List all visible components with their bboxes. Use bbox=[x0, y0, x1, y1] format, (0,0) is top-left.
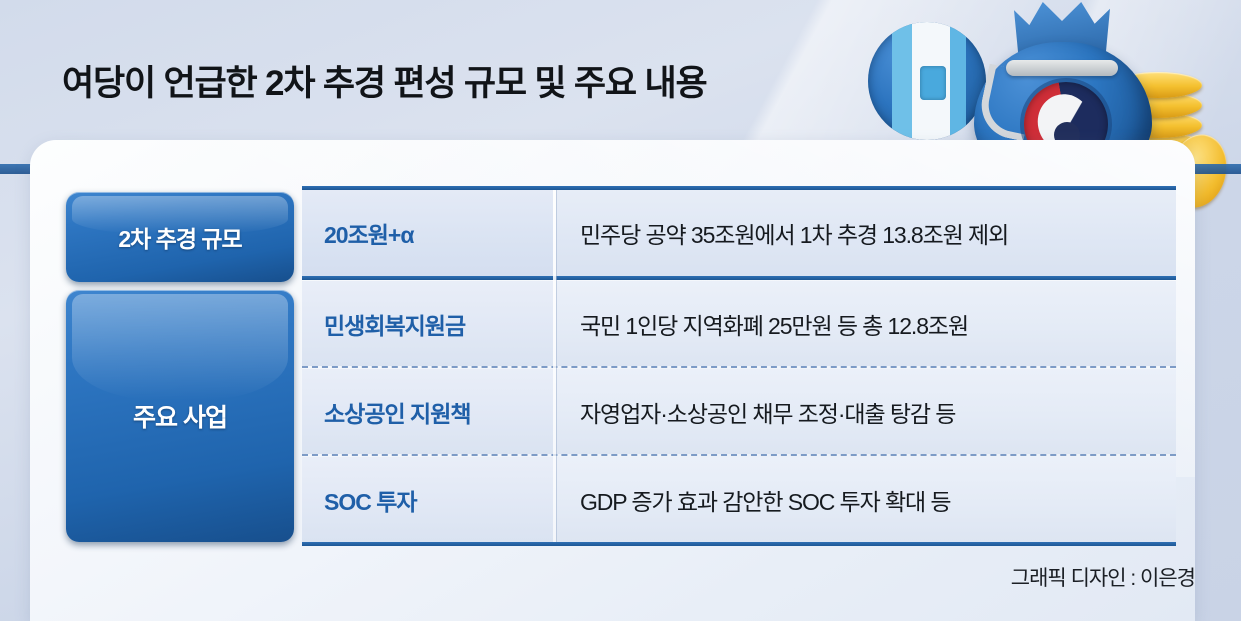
category-label-scale: 2차 추경 규모 bbox=[118, 220, 241, 254]
row-separator-dashed bbox=[302, 454, 1176, 456]
credit-line: 그래픽 디자인 : 이은경 bbox=[1011, 562, 1195, 592]
row-key: SOC 투자 bbox=[302, 457, 554, 542]
row-value: GDP 증가 효과 감안한 SOC 투자 확대 등 bbox=[554, 457, 1176, 542]
korea-emblem-badge-icon bbox=[868, 22, 986, 140]
table-row: 소상공인 지원책 자영업자·소상공인 채무 조정·대출 탕감 등 bbox=[302, 369, 1176, 454]
table-row: 민생회복지원금 국민 1인당 지역화폐 25만원 등 총 12.8조원 bbox=[302, 281, 1176, 366]
row-key: 소상공인 지원책 bbox=[302, 369, 554, 454]
money-bag-tie-icon bbox=[1006, 60, 1118, 76]
row-key: 20조원+α bbox=[302, 190, 554, 276]
row-separator-dashed bbox=[302, 366, 1176, 368]
category-label-projects: 주요 사업 bbox=[133, 398, 227, 434]
row-value: 민주당 공약 35조원에서 1차 추경 13.8조원 제외 bbox=[554, 190, 1176, 276]
row-value: 국민 1인당 지역화폐 25만원 등 총 12.8조원 bbox=[554, 281, 1176, 366]
column-divider bbox=[553, 190, 556, 542]
category-block-projects: 주요 사업 bbox=[66, 290, 294, 542]
row-value: 자영업자·소상공인 채무 조정·대출 탕감 등 bbox=[554, 369, 1176, 454]
content-table: 20조원+α 민주당 공약 35조원에서 1차 추경 13.8조원 제외 민생회… bbox=[302, 190, 1176, 553]
category-block-scale: 2차 추경 규모 bbox=[66, 192, 294, 282]
row-separator-solid bbox=[302, 276, 1176, 280]
table-row: 20조원+α 민주당 공약 35조원에서 1차 추경 13.8조원 제외 bbox=[302, 190, 1176, 276]
table-bottom-border bbox=[302, 542, 1176, 546]
page-title: 여당이 언급한 2차 추경 편성 규모 및 주요 내용 bbox=[62, 55, 706, 106]
row-key: 민생회복지원금 bbox=[302, 281, 554, 366]
infographic-canvas: 여당이 언급한 2차 추경 편성 규모 및 주요 내용 2차 추경 규모 주요 … bbox=[0, 0, 1241, 621]
table-row: SOC 투자 GDP 증가 효과 감안한 SOC 투자 확대 등 bbox=[302, 457, 1176, 542]
